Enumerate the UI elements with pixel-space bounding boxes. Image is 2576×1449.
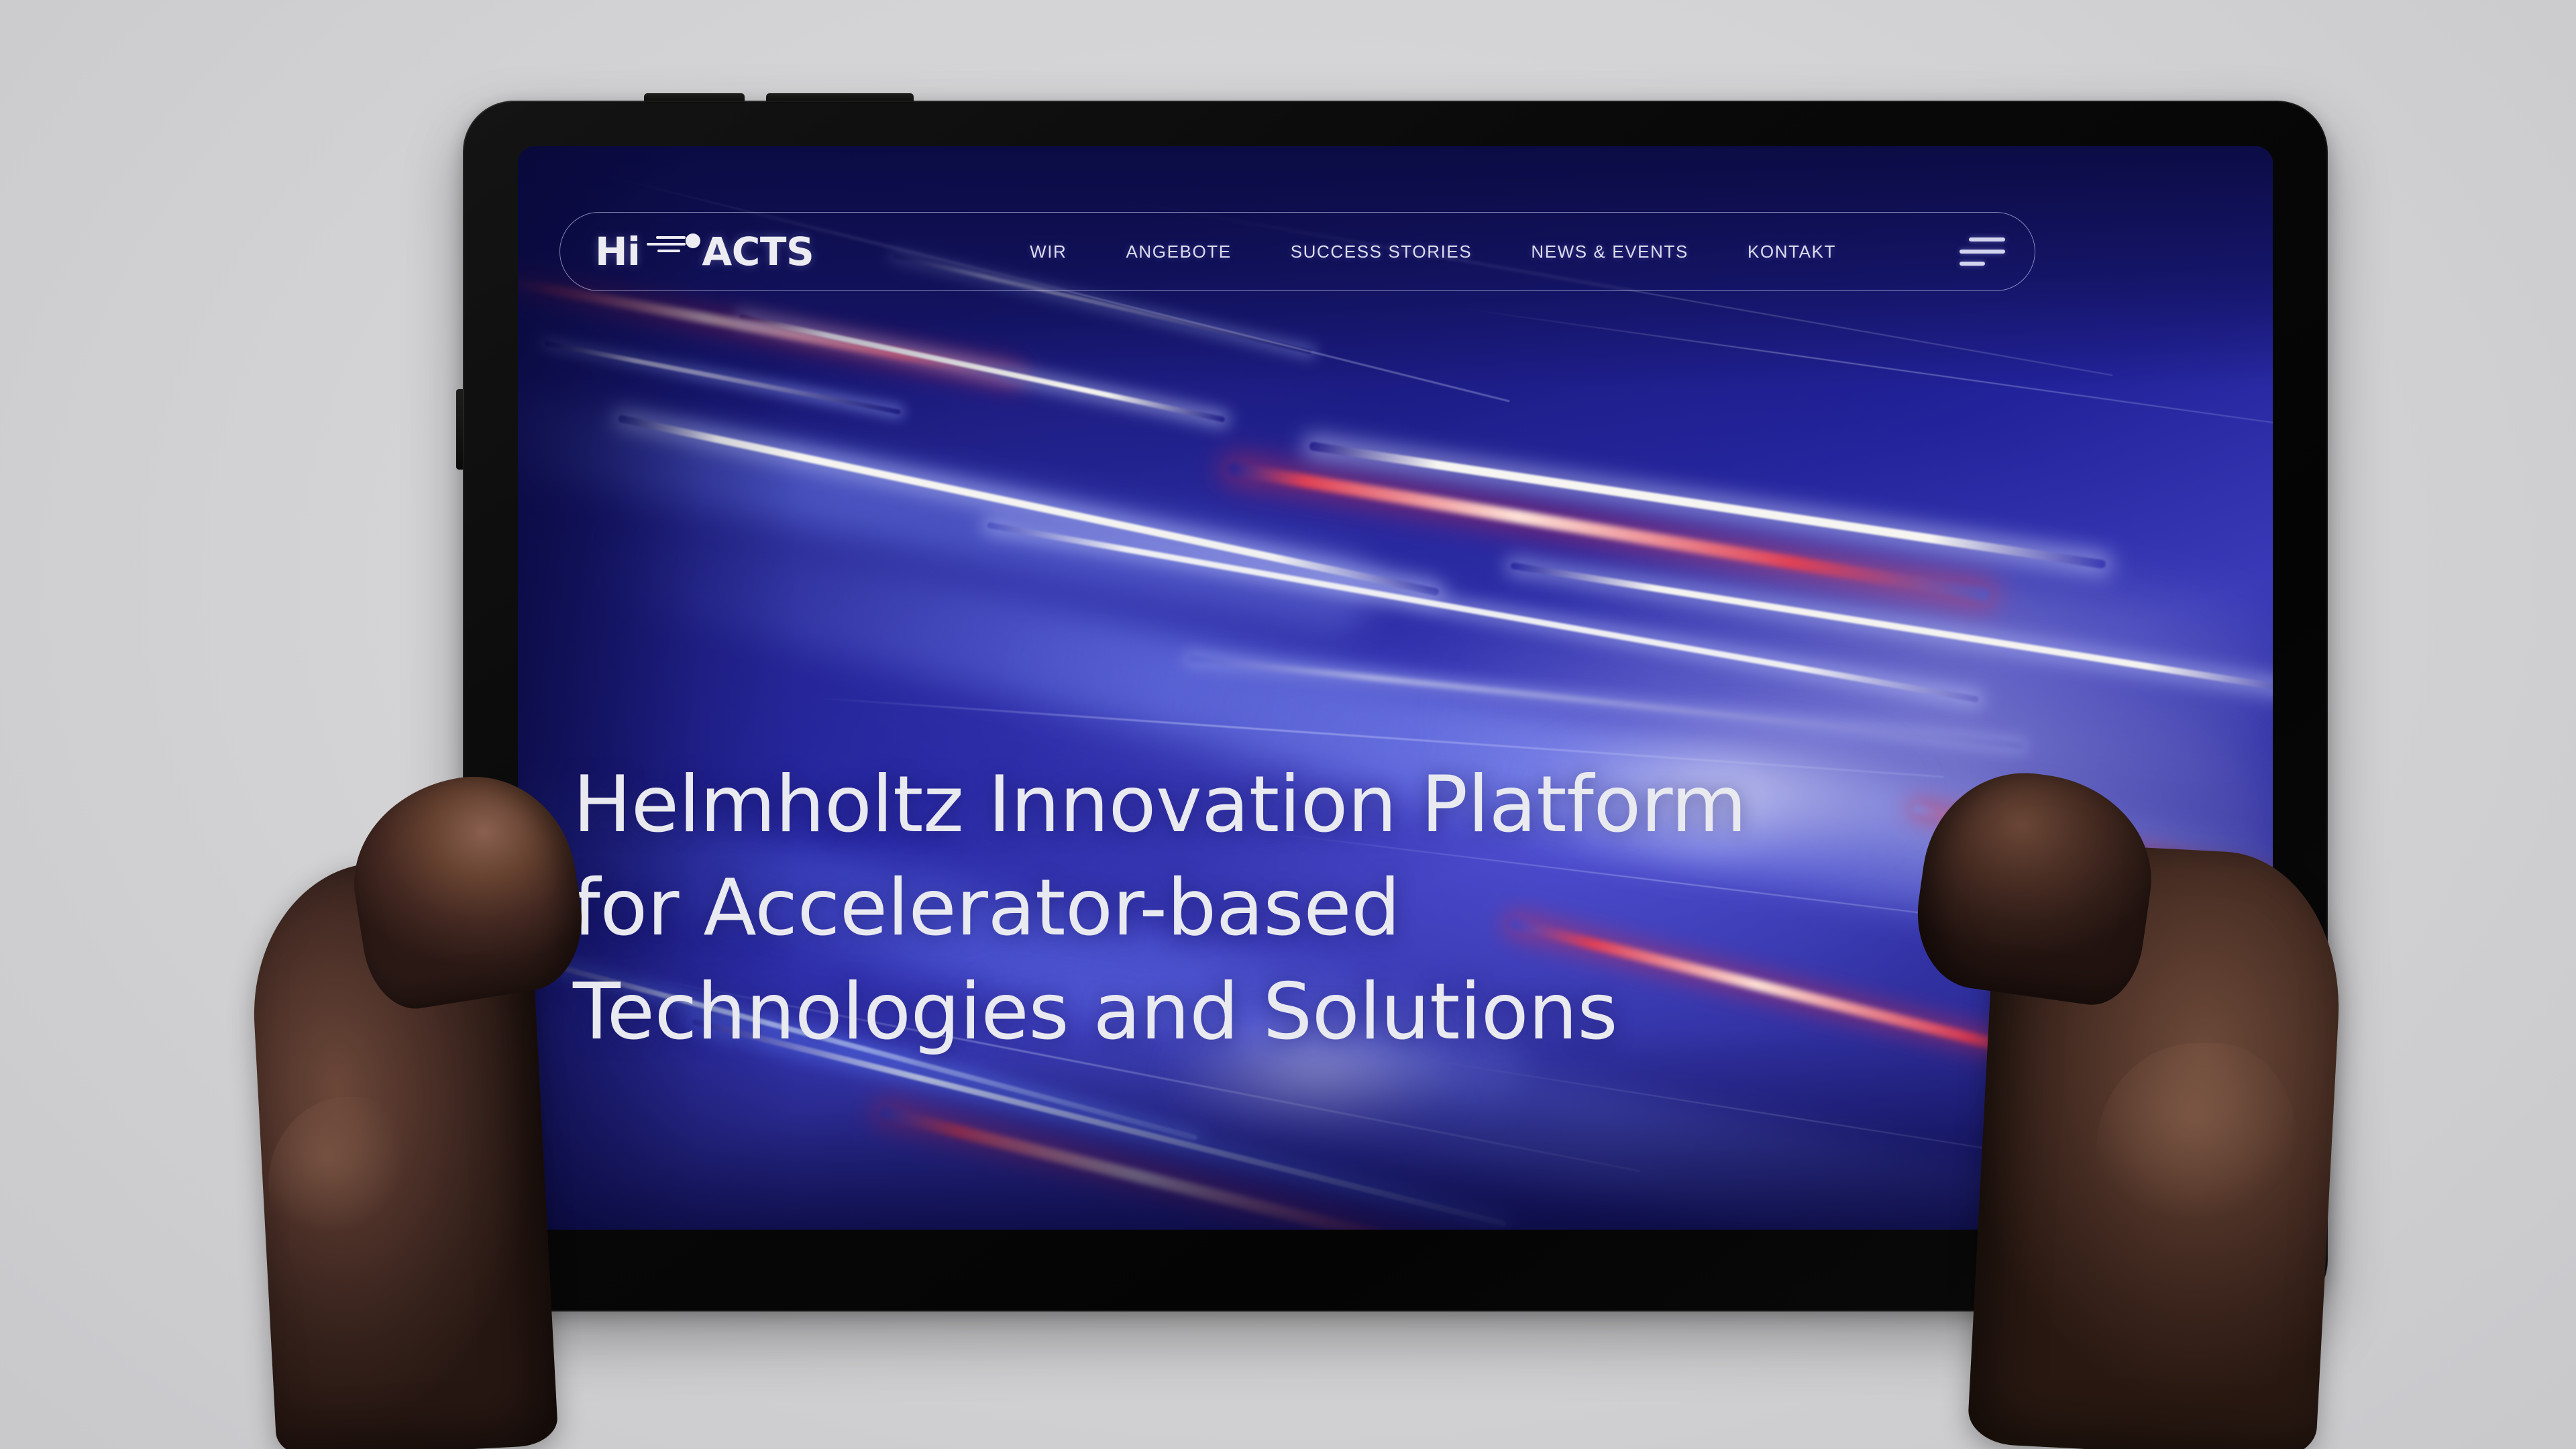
power-button[interactable] — [456, 389, 464, 470]
headline-line-2: for Accelerator-based — [573, 857, 1915, 960]
tablet-device: Hi ACTS WIR ANGEBOTE SUCCESS STORIES NEW… — [463, 101, 2328, 1311]
headline-line-3: Technologies and Solutions — [573, 961, 1915, 1064]
navigation-bar: Hi ACTS WIR ANGEBOTE SUCCESS STORIES NEW… — [559, 212, 2035, 291]
site-logo[interactable]: Hi ACTS — [595, 232, 814, 271]
logo-text-hi: Hi — [595, 232, 640, 271]
nav-item-kontakt[interactable]: KONTAKT — [1748, 241, 1836, 262]
nav-item-angebote[interactable]: ANGEBOTE — [1126, 241, 1231, 262]
scene-backdrop: Hi ACTS WIR ANGEBOTE SUCCESS STORIES NEW… — [0, 0, 2576, 1449]
hero-left-vignette — [518, 146, 800, 1230]
logo-text-acts: ACTS — [702, 232, 814, 271]
nav-item-success-stories[interactable]: SUCCESS STORIES — [1291, 241, 1472, 262]
tablet-screen[interactable]: Hi ACTS WIR ANGEBOTE SUCCESS STORIES NEW… — [518, 146, 2273, 1230]
speed-lines-dot-icon — [641, 232, 700, 271]
headline-line-1: Helmholtz Innovation Platform — [573, 753, 1915, 857]
nav-item-news-events[interactable]: NEWS & EVENTS — [1531, 241, 1688, 262]
nav-links: WIR ANGEBOTE SUCCESS STORIES NEWS & EVEN… — [1030, 236, 2005, 267]
left-hand-knuckle — [268, 1097, 416, 1265]
hero-headline: Helmholtz Innovation Platform for Accele… — [573, 753, 1915, 1064]
volume-up-button[interactable] — [644, 93, 745, 103]
nav-item-wir[interactable]: WIR — [1030, 241, 1067, 262]
hamburger-menu-icon[interactable] — [1960, 236, 2005, 267]
volume-down-button[interactable] — [766, 93, 914, 103]
